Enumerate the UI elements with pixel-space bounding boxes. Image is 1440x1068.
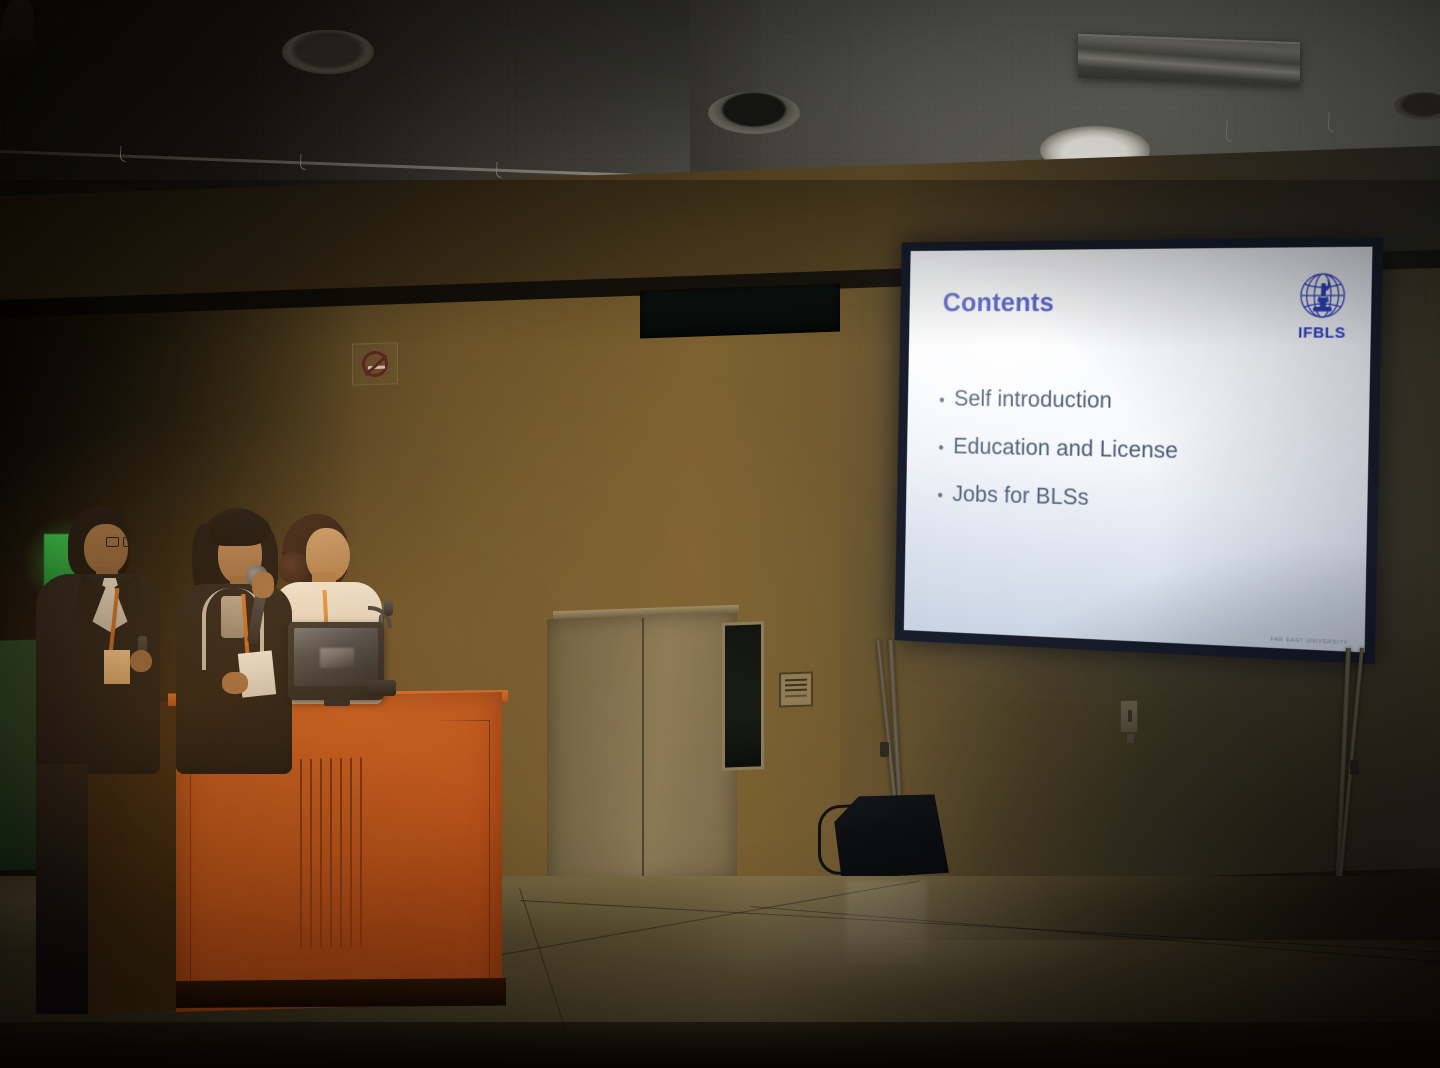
eyeglasses-icon: [106, 537, 136, 548]
mic-base: [368, 680, 396, 696]
bullet-marker-icon: •: [939, 392, 945, 409]
name-badge: [104, 650, 130, 684]
presentation-photo-scene: Contents: [0, 0, 1440, 1068]
hand: [252, 572, 274, 598]
ifbls-logo-text: IFBLS: [1288, 324, 1356, 342]
ceiling-hook-icon: [1327, 112, 1334, 132]
bullet-marker-icon: •: [938, 439, 944, 456]
wall-outlet-plate: [1120, 700, 1138, 734]
legs: [36, 764, 88, 1014]
monitor-glare: [320, 648, 354, 668]
bangs: [210, 512, 270, 546]
ifbls-logo: IFBLS: [1288, 270, 1358, 342]
screen-stand-clamp: [1350, 760, 1359, 775]
ceiling-hook-icon: [1225, 120, 1232, 142]
fluorescent-ceiling-panel: [1078, 34, 1300, 87]
globe-microscope-icon: [1295, 270, 1350, 324]
podium-groove-detail: [300, 757, 372, 949]
framed-wall-notice: [779, 671, 813, 707]
slide-bullet-text: Self introduction: [954, 387, 1112, 412]
presenter-left: [0, 0, 34, 86]
slide-bullet-item: • Education and License: [938, 434, 1337, 465]
slide-bullet-text: Jobs for BLSs: [952, 482, 1089, 508]
floor-reflection: [846, 880, 926, 970]
gooseneck-mic-capsule: [384, 600, 393, 616]
ceiling-hook-icon: [496, 162, 503, 178]
double-door[interactable]: [547, 613, 737, 888]
side-hair: [0, 0, 34, 86]
projection-screen: Contents: [895, 237, 1384, 664]
slide-footer-text: FAR EAST UNIVERSITY: [1270, 637, 1348, 647]
ceiling-speaker-grille: [640, 284, 840, 339]
hand: [222, 672, 248, 694]
recessed-downlight-icon: [708, 92, 800, 134]
slide-surface: Contents: [904, 247, 1373, 653]
slide-title: Contents: [943, 287, 1055, 318]
screen-stand-clamp: [880, 742, 889, 757]
hand: [130, 650, 152, 672]
recessed-downlight-icon: [282, 30, 374, 74]
ceiling-hook-icon: [300, 154, 307, 170]
slide-bullet-item: • Jobs for BLSs: [937, 482, 1336, 516]
bullet-marker-icon: •: [937, 487, 943, 504]
slide-bullet-item: • Self introduction: [939, 387, 1338, 415]
podium-base: [176, 978, 506, 1008]
ceiling-hook-icon: [120, 146, 127, 162]
door-vision-panel: [722, 621, 764, 770]
foreground-shadow: [0, 1022, 1440, 1068]
monitor-stand: [324, 698, 350, 706]
screen-frame: Contents: [895, 237, 1384, 664]
slide-bullet-text: Education and License: [953, 435, 1178, 462]
slide-bullet-list: • Self introduction • Education and Lice…: [937, 387, 1339, 543]
no-smoking-sign-icon: [352, 342, 398, 386]
